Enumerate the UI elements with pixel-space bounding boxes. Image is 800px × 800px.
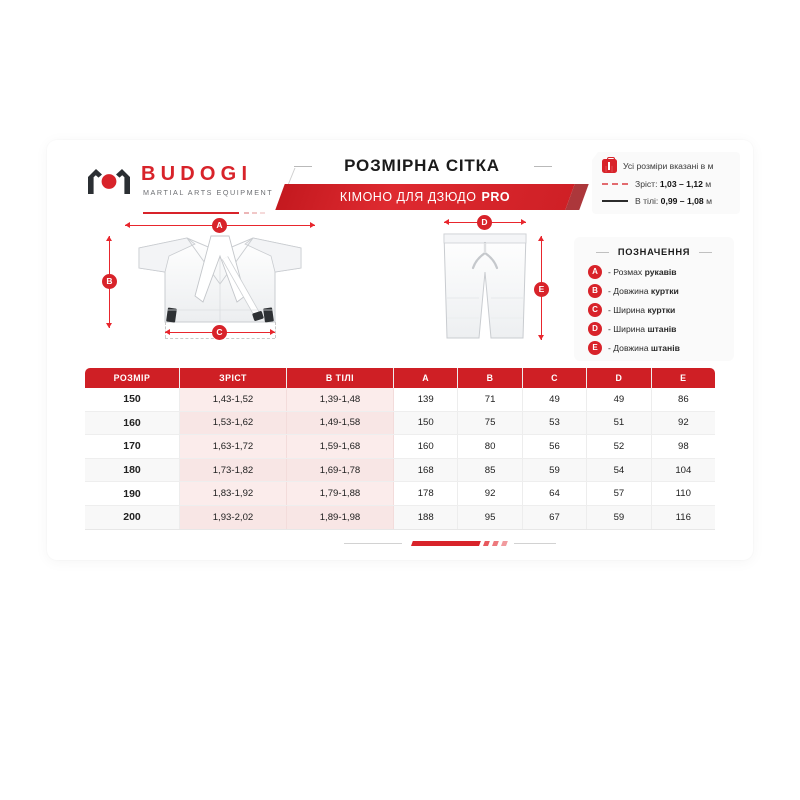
col-header-height: ЗРІСТ: [180, 368, 287, 388]
cell-a: 160: [394, 435, 458, 458]
cell-b: 80: [458, 435, 522, 458]
judo-pants-illustration: D E: [435, 226, 535, 344]
col-header-size: РОЗМІР: [85, 368, 180, 388]
table-body: 150 1,43-1,52 1,39-1,48 139 71 49 49 86 …: [85, 388, 715, 530]
cell-size: 160: [85, 412, 180, 435]
legend-badge-c: C: [588, 303, 602, 317]
cell-height: 1,83-1,92: [180, 482, 287, 505]
cell-height: 1,73-1,82: [180, 459, 287, 482]
col-header-a: A: [394, 368, 458, 388]
bottom-divider: [344, 538, 556, 548]
cell-e: 98: [652, 435, 715, 458]
legend-title-wrap: ПОЗНАЧЕННЯ: [574, 246, 734, 258]
cell-d: 54: [587, 459, 651, 482]
size-table: РОЗМІР ЗРІСТ В ТІЛІ A B C D E 150 1,43-1…: [85, 368, 715, 530]
cell-c: 67: [523, 506, 587, 529]
dimension-badge-d: D: [477, 215, 492, 230]
table-row: 180 1,73-1,82 1,69-1,78 168 85 59 54 104: [85, 459, 715, 483]
ribbon-badge: PRO: [481, 184, 510, 210]
table-header-row: РОЗМІР ЗРІСТ В ТІЛІ A B C D E: [85, 368, 715, 388]
legend-item-b: B - Довжина куртки: [588, 284, 679, 298]
table-row: 170 1,63-1,72 1,59-1,68 160 80 56 52 98: [85, 435, 715, 459]
cell-b: 85: [458, 459, 522, 482]
dimension-badge-c: C: [212, 325, 227, 340]
col-header-c: C: [523, 368, 587, 388]
brand-tagline: MARTIAL ARTS EQUIPMENT: [143, 188, 273, 197]
cell-b: 71: [458, 388, 522, 411]
measure-kit-icon: [602, 159, 617, 173]
legend-box: ПОЗНАЧЕННЯ A - Розмах рукавів B - Довжин…: [574, 237, 734, 361]
legend-item-e: E - Довжина штанів: [588, 341, 680, 355]
table-row: 200 1,93-2,02 1,89-1,98 188 95 67 59 116: [85, 506, 715, 530]
cell-body: 1,69-1,78: [287, 459, 394, 482]
legend-label-d: - Ширина штанів: [608, 323, 676, 335]
units-text: Усі розміри вказані в м: [623, 160, 714, 172]
cell-body: 1,89-1,98: [287, 506, 394, 529]
budogi-figures-circle-logo: [85, 164, 133, 196]
legend-item-d: D - Ширина штанів: [588, 322, 676, 336]
cell-c: 64: [523, 482, 587, 505]
measurement-note: Усі розміри вказані в м Зріст: 1,03 – 1,…: [592, 152, 740, 214]
cell-size: 190: [85, 482, 180, 505]
page-title: РОЗМІРНА СІТКА: [272, 156, 572, 176]
legend-label-a: - Розмах рукавів: [608, 266, 677, 278]
cell-b: 92: [458, 482, 522, 505]
ribbon-label: КІМОНО ДЛЯ ДЗЮДО: [340, 184, 477, 210]
cell-e: 86: [652, 388, 715, 411]
ribbon-label-wrap: КІМОНО ДЛЯ ДЗЮДО PRO: [280, 184, 570, 210]
judo-jacket-illustration: A B C: [125, 222, 315, 352]
cell-c: 59: [523, 459, 587, 482]
cell-size: 180: [85, 459, 180, 482]
dimension-badge-b: B: [102, 274, 117, 289]
cell-d: 49: [587, 388, 651, 411]
cell-height: 1,63-1,72: [180, 435, 287, 458]
note-height: Зріст: 1,03 – 1,12 м: [635, 178, 711, 190]
col-header-e: E: [652, 368, 715, 388]
legend-badge-a: A: [588, 265, 602, 279]
cell-b: 75: [458, 412, 522, 435]
cell-a: 168: [394, 459, 458, 482]
cell-d: 52: [587, 435, 651, 458]
col-header-d: D: [587, 368, 651, 388]
cell-a: 188: [394, 506, 458, 529]
logo-underline: [143, 210, 273, 215]
pants-svg: [435, 226, 535, 344]
cell-body: 1,49-1,58: [287, 412, 394, 435]
cell-d: 57: [587, 482, 651, 505]
brand-name: BUDOGI: [141, 164, 252, 184]
legend-label-c: - Ширина куртки: [608, 304, 675, 316]
table-row: 160 1,53-1,62 1,49-1,58 150 75 53 51 92: [85, 412, 715, 436]
cell-d: 51: [587, 412, 651, 435]
note-body: В тілі: 0,99 – 1,08 м: [635, 195, 712, 207]
col-header-b: B: [458, 368, 522, 388]
legend-badge-d: D: [588, 322, 602, 336]
legend-item-a: A - Розмах рукавів: [588, 265, 677, 279]
cell-e: 92: [652, 412, 715, 435]
legend-badge-e: E: [588, 341, 602, 355]
cell-height: 1,93-2,02: [180, 506, 287, 529]
cell-body: 1,39-1,48: [287, 388, 394, 411]
legend-item-c: C - Ширина куртки: [588, 303, 675, 317]
solid-line-icon: [602, 200, 628, 202]
cell-a: 139: [394, 388, 458, 411]
note-row-height: Зріст: 1,03 – 1,12 м: [602, 178, 711, 190]
col-header-body: В ТІЛІ: [287, 368, 394, 388]
cell-e: 104: [652, 459, 715, 482]
legend-title: ПОЗНАЧЕННЯ: [618, 247, 690, 257]
size-chart-card: BUDOGI MARTIAL ARTS EQUIPMENT РОЗМІРНА С…: [47, 140, 753, 560]
cell-size: 150: [85, 388, 180, 411]
cell-height: 1,43-1,52: [180, 388, 287, 411]
cell-size: 200: [85, 506, 180, 529]
dimension-badge-a: A: [212, 218, 227, 233]
cell-c: 53: [523, 412, 587, 435]
units-row: Усі розміри вказані в м: [602, 159, 714, 173]
cell-size: 170: [85, 435, 180, 458]
dashed-line-icon: [602, 183, 628, 185]
cell-c: 49: [523, 388, 587, 411]
cell-e: 110: [652, 482, 715, 505]
size-chart-page: BUDOGI MARTIAL ARTS EQUIPMENT РОЗМІРНА С…: [0, 0, 800, 800]
cell-c: 56: [523, 435, 587, 458]
brand-logo: BUDOGI MARTIAL ARTS EQUIPMENT: [85, 162, 300, 210]
cell-height: 1,53-1,62: [180, 412, 287, 435]
cell-a: 178: [394, 482, 458, 505]
cell-e: 116: [652, 506, 715, 529]
legend-badge-b: B: [588, 284, 602, 298]
cell-d: 59: [587, 506, 651, 529]
cell-a: 150: [394, 412, 458, 435]
dimension-badge-e: E: [534, 282, 549, 297]
legend-label-b: - Довжина куртки: [608, 285, 679, 297]
note-row-body: В тілі: 0,99 – 1,08 м: [602, 195, 712, 207]
cell-body: 1,59-1,68: [287, 435, 394, 458]
cell-b: 95: [458, 506, 522, 529]
table-row: 150 1,43-1,52 1,39-1,48 139 71 49 49 86: [85, 388, 715, 412]
table-row: 190 1,83-1,92 1,79-1,88 178 92 64 57 110: [85, 482, 715, 506]
cell-body: 1,79-1,88: [287, 482, 394, 505]
legend-label-e: - Довжина штанів: [608, 342, 680, 354]
page-title-block: РОЗМІРНА СІТКА КІМОНО ДЛЯ ДЗЮДО PRO: [272, 156, 572, 216]
